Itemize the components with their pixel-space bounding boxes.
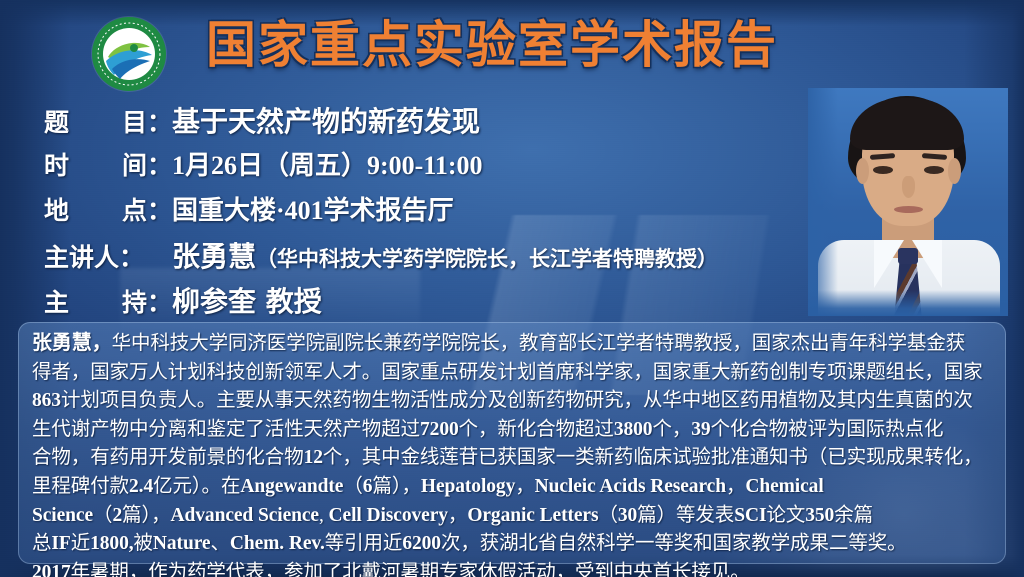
- seminar-poster: 国家重点实验室学术报告 题目： 基于天然产物的新药发现 时间： 1月26日（周五…: [0, 0, 1024, 577]
- bio-line: 863计划项目负责人。主要从事天然药物生物活性成分及创新药物研究，从华中地区药用…: [32, 387, 994, 416]
- page-title: 国家重点实验室学术报告: [206, 14, 866, 76]
- speaker-biography-panel: 张勇慧，华中科技大学同济医学院副院长兼药学院院长，教育部长江学者特聘教授，国家杰…: [18, 322, 1006, 564]
- portrait-eye-right: [924, 166, 944, 174]
- info-label-location: 地点：: [44, 191, 172, 227]
- portrait-hair-top: [850, 98, 964, 150]
- info-value-time: 1月26日（周五）9:00-11:00: [172, 145, 483, 182]
- info-label-time: 时间：: [44, 146, 172, 182]
- event-details: 题目： 基于天然产物的新药发现 时间： 1月26日（周五）9:00-11:00 …: [44, 100, 804, 325]
- info-row-location: 地点： 国重大楼·401学术报告厅: [44, 190, 804, 235]
- bio-line-remainder: 华中科技大学同济医学院副院长兼药学院院长，教育部长江学者特聘教授，国家杰出青年科…: [112, 333, 966, 354]
- portrait-mouth: [894, 206, 923, 213]
- speaker-portrait: [808, 88, 1008, 316]
- portrait-ear-right: [948, 158, 961, 184]
- bio-line: Science（2篇），Advanced Science, Cell Disco…: [32, 502, 994, 531]
- info-label-speaker: 主讲人：: [44, 238, 172, 274]
- info-row-host: 主持： 柳参奎 教授: [44, 280, 804, 325]
- portrait-left-fade: [808, 88, 838, 316]
- portrait-bottom-fade: [808, 290, 1008, 316]
- logo-svg: [92, 17, 166, 91]
- info-value-host: 柳参奎 教授: [172, 280, 322, 320]
- info-row-time: 时间： 1月26日（周五）9:00-11:00: [44, 145, 804, 190]
- bio-speaker-name: 张勇慧，: [32, 330, 112, 354]
- info-row-topic: 题目： 基于天然产物的新药发现: [44, 100, 804, 145]
- bio-line: 生代谢产物中分离和鉴定了活性天然产物超过7200个，新化合物超过3800个，39…: [32, 416, 994, 445]
- info-value-speaker: 张勇慧: [172, 235, 256, 275]
- info-value-speaker-affiliation: （华中科技大学药学院院长，长江学者特聘教授）: [256, 243, 718, 273]
- info-value-topic: 基于天然产物的新药发现: [172, 100, 480, 140]
- portrait-ear-left: [856, 158, 869, 184]
- bio-line: 得者，国家万人计划科技创新领军人才。国家重点研发计划首席科学家，国家重大新药创制…: [32, 359, 994, 388]
- institution-logo-icon: [92, 17, 166, 91]
- bio-line: 里程碑付款2.4亿元）。在Angewandte（6篇），Hepatology，N…: [32, 473, 994, 502]
- bio-line: 2017年暑期，作为药学代表，参加了北戴河暑期专家休假活动，受到中央首长接见。: [32, 559, 994, 577]
- portrait-eye-left: [873, 166, 893, 174]
- bio-line: 张勇慧，华中科技大学同济医学院副院长兼药学院院长，教育部长江学者特聘教授，国家杰…: [32, 328, 994, 359]
- portrait-necktie-knot: [898, 248, 918, 264]
- info-label-host: 主持：: [44, 283, 172, 319]
- info-row-speaker: 主讲人： 张勇慧 （华中科技大学药学院院长，长江学者特聘教授）: [44, 235, 804, 280]
- info-value-location: 国重大楼·401学术报告厅: [172, 190, 454, 227]
- poster-header: 国家重点实验室学术报告: [0, 0, 1024, 92]
- portrait-nose: [902, 176, 915, 198]
- bio-line: 合物，有药用开发前景的化合物12个，其中金线莲苷已获国家一类新药临床试验批准通知…: [32, 444, 994, 473]
- bio-line: 总IF近1800,被Nature、Chem. Rev.等引用近6200次，获湖北…: [32, 530, 994, 559]
- info-label-topic: 题目：: [44, 103, 172, 139]
